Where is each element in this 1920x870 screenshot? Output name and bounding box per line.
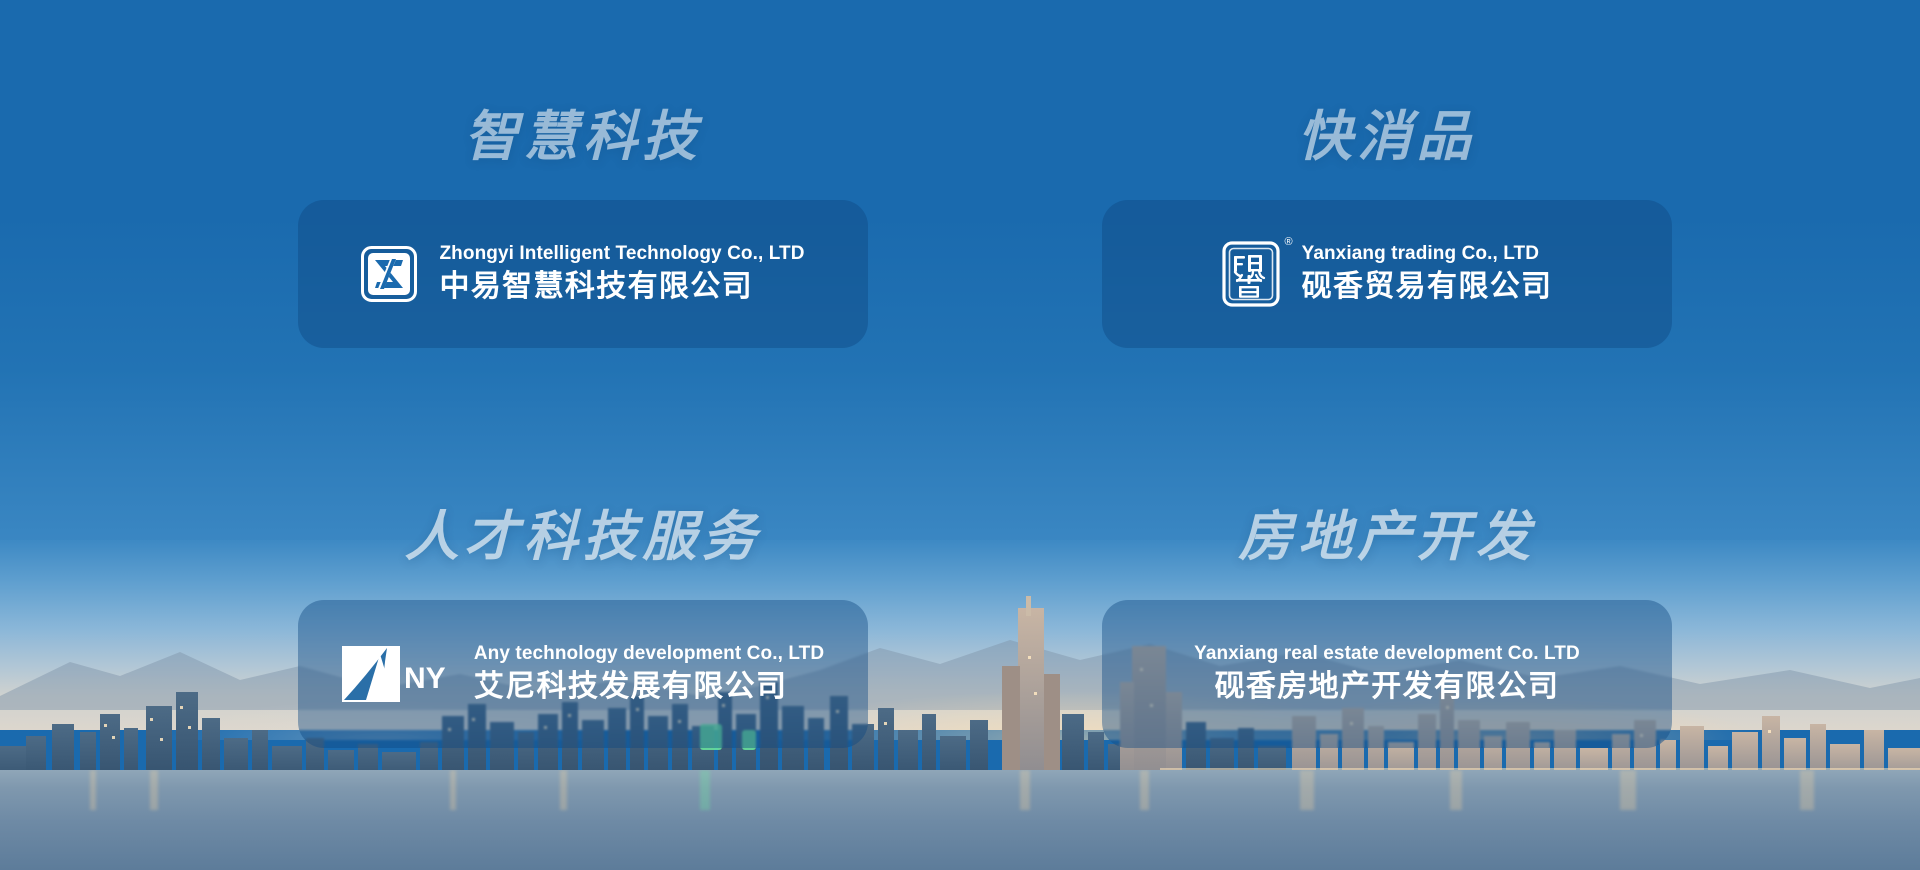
company-name-cn: 砚香房地产开发有限公司 bbox=[1215, 667, 1560, 706]
company-name-cn: 中易智慧科技有限公司 bbox=[439, 267, 804, 306]
company-card-yanxiang-trading[interactable]: ® Yanxiang trading Co., LTD 砚香贸易有限公司 bbox=[1102, 200, 1672, 348]
company-name-en: Yanxiang real estate development Co. LTD bbox=[1194, 642, 1580, 666]
any-logo-icon: NY bbox=[342, 646, 452, 702]
company-name-cn: 砚香贸易有限公司 bbox=[1302, 267, 1553, 306]
company-names: Any technology development Co., LTD 艾尼科技… bbox=[474, 642, 824, 707]
company-card-zhongyi[interactable]: Zhongyi Intelligent Technology Co., LTD … bbox=[298, 200, 868, 348]
sector-fmcg: 快消品 bbox=[960, 0, 1920, 435]
zhongyi-logo-icon bbox=[361, 246, 417, 302]
yanxiang-seal-logo-icon: ® bbox=[1222, 241, 1280, 307]
company-names: Zhongyi Intelligent Technology Co., LTD … bbox=[439, 242, 804, 307]
company-card-yanxiang-real-estate[interactable]: Yanxiang real estate development Co. LTD… bbox=[1102, 600, 1672, 748]
company-names: Yanxiang real estate development Co. LTD… bbox=[1194, 642, 1580, 707]
sector-talent-tech-services: 人才科技服务 NY Any technology development Co.… bbox=[0, 435, 960, 870]
sector-real-estate: 房地产开发 Yanxiang real estate development C… bbox=[960, 435, 1920, 870]
sector-grid: 智慧科技 Zhongyi Intelligent Technology Co.,… bbox=[0, 0, 1920, 870]
company-name-cn: 艾尼科技发展有限公司 bbox=[474, 667, 824, 706]
company-card-any[interactable]: NY Any technology development Co., LTD 艾… bbox=[298, 600, 868, 748]
sector-title: 房地产开发 bbox=[1102, 510, 1672, 564]
sector-title: 智慧科技 bbox=[298, 110, 868, 164]
any-logo-text: NY bbox=[404, 662, 446, 695]
company-name-en: Yanxiang trading Co., LTD bbox=[1302, 242, 1553, 266]
registered-trademark-icon: ® bbox=[1284, 237, 1292, 248]
company-name-en: Zhongyi Intelligent Technology Co., LTD bbox=[439, 242, 804, 266]
company-names: Yanxiang trading Co., LTD 砚香贸易有限公司 bbox=[1302, 242, 1553, 307]
sector-title: 人才科技服务 bbox=[298, 510, 868, 564]
company-name-en: Any technology development Co., LTD bbox=[474, 642, 824, 666]
sector-smart-technology: 智慧科技 Zhongyi Intelligent Technology Co.,… bbox=[0, 0, 960, 435]
sector-title: 快消品 bbox=[1102, 110, 1672, 164]
